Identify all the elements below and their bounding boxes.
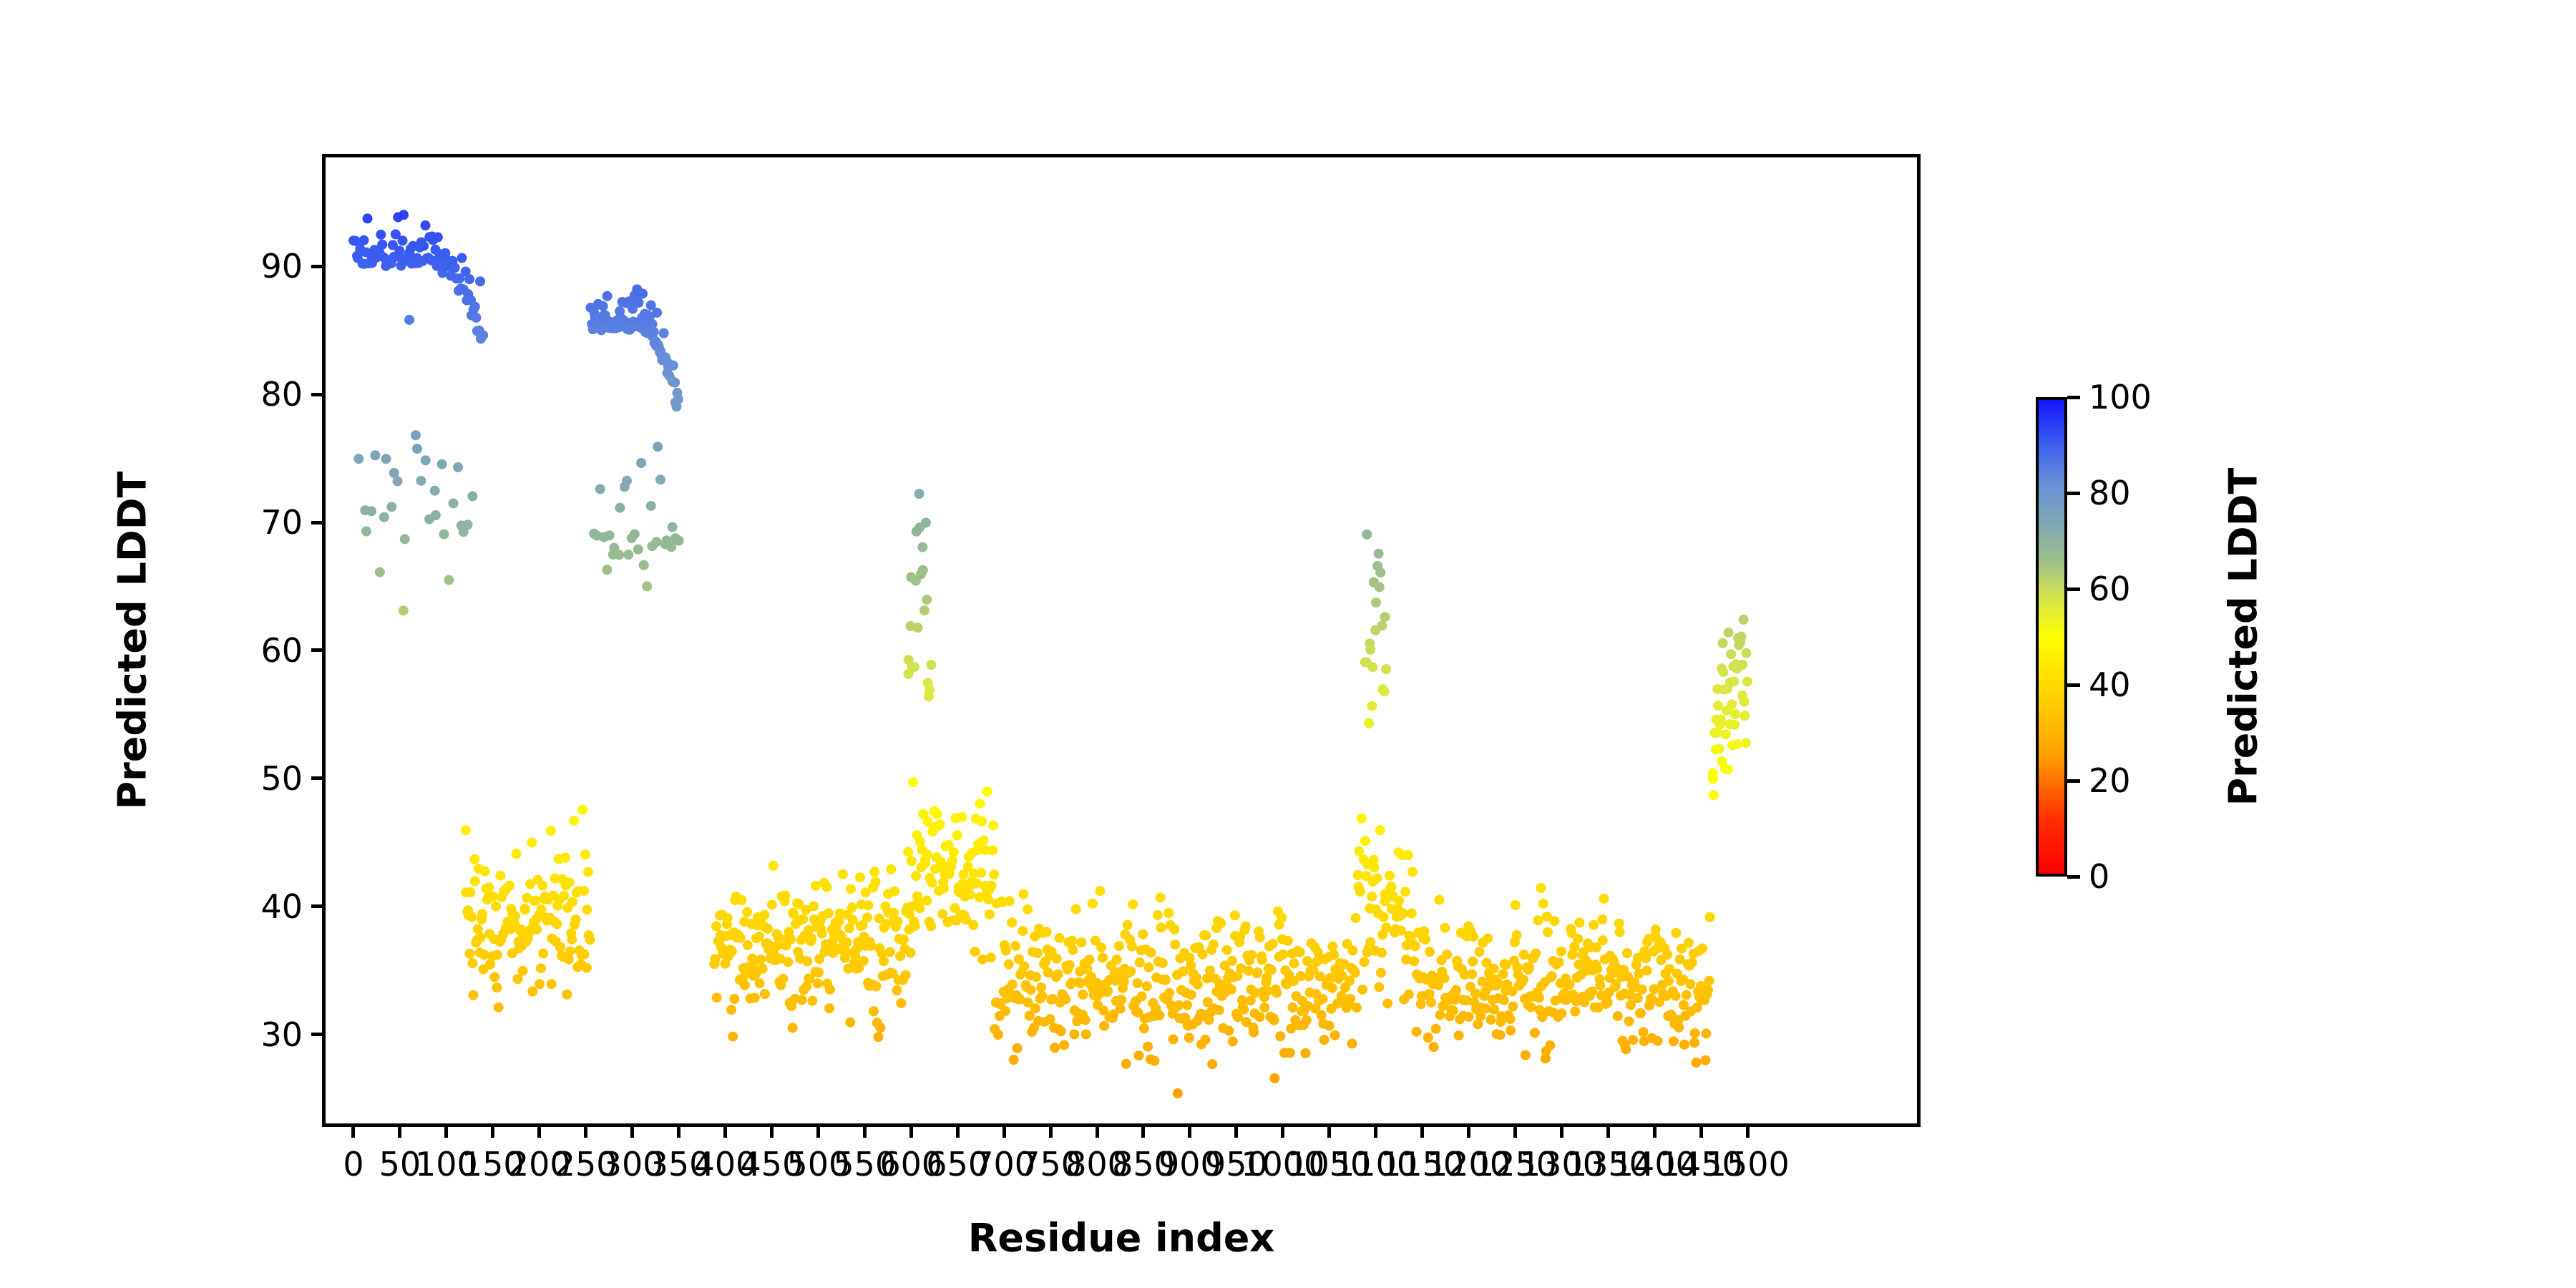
- scatter-point: [806, 933, 816, 943]
- scatter-point: [1536, 883, 1546, 893]
- scatter-point: [780, 891, 790, 901]
- scatter-point: [1409, 956, 1419, 966]
- scatter-point: [1729, 720, 1740, 730]
- scatter-point: [824, 908, 834, 918]
- scatter-point: [1404, 990, 1414, 1000]
- scatter-point: [1381, 664, 1391, 674]
- scatter-point: [1705, 912, 1715, 922]
- scatter-point: [1380, 612, 1390, 622]
- scatter-point: [932, 809, 942, 819]
- scatter-point: [1714, 744, 1724, 754]
- scatter-point: [565, 877, 575, 887]
- scatter-point: [1069, 1029, 1079, 1039]
- scatter-point: [1679, 1040, 1689, 1050]
- scatter-point: [1410, 941, 1420, 951]
- scatter-point: [467, 958, 477, 968]
- scatter-point: [1556, 947, 1566, 957]
- scatter-point: [614, 550, 624, 560]
- x-tick-mark: [1327, 1123, 1331, 1138]
- scatter-point: [1302, 1015, 1312, 1025]
- scatter-point: [1403, 850, 1413, 860]
- scatter-point: [1534, 992, 1544, 1002]
- scatter-point: [1726, 649, 1736, 659]
- scatter-point: [1531, 948, 1541, 958]
- scatter-point: [846, 884, 856, 894]
- scatter-point: [370, 450, 380, 460]
- colorbar-tick-label: 80: [2089, 474, 2131, 512]
- scatter-point: [477, 909, 487, 919]
- scatter-point: [399, 210, 409, 220]
- scatter-point: [1186, 990, 1196, 1000]
- scatter-point: [480, 867, 490, 877]
- scatter-point: [555, 942, 565, 952]
- scatter-point: [809, 901, 819, 911]
- scatter-point: [910, 921, 920, 931]
- scatter-point: [1184, 1033, 1194, 1043]
- scatter-point: [416, 476, 426, 486]
- x-tick-label: 0: [343, 1145, 364, 1184]
- y-tick-mark: [311, 904, 326, 908]
- scatter-point: [1327, 942, 1337, 952]
- scatter-point: [579, 886, 589, 896]
- scatter-point: [1740, 697, 1750, 707]
- scatter-point: [1669, 1036, 1679, 1046]
- scatter-point: [1429, 1042, 1439, 1052]
- scatter-point: [817, 929, 827, 939]
- scatter-point: [1564, 980, 1574, 990]
- scatter-point: [1511, 900, 1521, 910]
- scatter-point: [1376, 967, 1386, 977]
- scatter-point: [448, 498, 458, 508]
- scatter-point: [982, 786, 992, 796]
- scatter-point: [1724, 628, 1734, 638]
- scatter-point: [1357, 814, 1367, 824]
- scatter-point: [1112, 955, 1122, 965]
- scatter-point: [1354, 846, 1364, 856]
- scatter-point: [1289, 958, 1299, 968]
- scatter-point: [518, 966, 528, 976]
- scatter-point: [987, 845, 997, 855]
- scatter-point: [1283, 936, 1293, 946]
- scatter-point: [886, 864, 896, 874]
- scatter-point: [1615, 927, 1625, 937]
- x-tick-mark: [1513, 1123, 1517, 1138]
- scatter-point: [469, 990, 479, 1000]
- scatter-point: [1278, 950, 1288, 960]
- scatter-point: [1355, 887, 1365, 897]
- scatter-point: [767, 899, 777, 909]
- scatter-point: [1277, 912, 1287, 922]
- scatter-point: [602, 565, 612, 575]
- scatter-point: [1050, 1043, 1060, 1053]
- scatter-point: [1367, 662, 1377, 672]
- scatter-point: [552, 919, 562, 929]
- scatter-point: [1138, 930, 1148, 940]
- scatter-point: [711, 921, 721, 931]
- scatter-point: [1257, 955, 1267, 965]
- x-tick-mark: [1653, 1123, 1657, 1138]
- scatter-point: [1703, 985, 1713, 995]
- scatter-point: [1737, 660, 1747, 670]
- scatter-point: [1641, 965, 1652, 975]
- x-tick-mark: [909, 1123, 913, 1138]
- scatter-point: [863, 900, 873, 910]
- scatter-point: [398, 235, 408, 245]
- scatter-point: [412, 444, 422, 454]
- scatter-point: [623, 550, 633, 560]
- scatter-point: [1412, 1027, 1422, 1037]
- scatter-point: [1598, 935, 1608, 945]
- scatter-point: [838, 869, 848, 879]
- scatter-point: [892, 916, 902, 926]
- colorbar-tick-label: 100: [2089, 378, 2152, 416]
- scatter-point: [1116, 1004, 1126, 1014]
- scatter-point: [926, 921, 936, 931]
- scatter-point: [919, 605, 930, 615]
- scatter-point: [595, 484, 605, 494]
- scatter-point: [788, 1023, 798, 1033]
- scatter-point: [668, 361, 678, 371]
- scatter-point: [989, 869, 999, 879]
- scatter-point: [1019, 889, 1029, 899]
- scatter-point: [1146, 947, 1156, 957]
- scatter-point: [1127, 942, 1137, 952]
- scatter-point: [783, 957, 793, 967]
- scatter-point: [1228, 1036, 1238, 1046]
- scatter-point: [1246, 950, 1257, 960]
- scatter-point: [911, 871, 921, 881]
- scatter-point: [1036, 982, 1046, 992]
- scatter-point: [1222, 945, 1232, 955]
- scatter-point: [492, 982, 502, 992]
- scatter-point: [484, 882, 494, 892]
- scatter-point: [375, 567, 385, 577]
- colorbar: 020406080100: [2036, 397, 2067, 877]
- scatter-point: [642, 581, 652, 591]
- scatter-point: [1407, 867, 1418, 877]
- scatter-point: [1599, 894, 1609, 904]
- colorbar-tick-label: 60: [2089, 570, 2131, 608]
- scatter-point: [797, 995, 807, 1005]
- scatter-point: [859, 956, 869, 966]
- scatter-point: [377, 240, 387, 250]
- scatter-point: [1241, 922, 1251, 932]
- y-tick-label: 60: [260, 631, 303, 670]
- scatter-point: [814, 967, 824, 977]
- scatter-point: [673, 394, 683, 404]
- scatter-point: [1379, 912, 1389, 922]
- scatter-point: [622, 476, 632, 486]
- scatter-point: [750, 992, 760, 1002]
- scatter-point: [1001, 945, 1011, 955]
- scatter-point: [1360, 957, 1370, 967]
- scatter-point: [668, 522, 678, 532]
- scatter-point: [1352, 1002, 1362, 1013]
- scatter-point: [464, 949, 474, 959]
- scatter-point: [560, 853, 570, 863]
- scatter-point: [1470, 988, 1480, 998]
- scatter-point: [457, 253, 467, 263]
- scatter-point: [723, 913, 733, 923]
- scatter-point: [1570, 1006, 1580, 1016]
- scatter-point: [598, 301, 608, 311]
- scatter-point: [912, 623, 922, 633]
- scatter-point: [1468, 932, 1478, 942]
- x-tick-mark: [1188, 1123, 1191, 1138]
- y-tick-label: 50: [260, 759, 303, 798]
- scatter-point: [1227, 956, 1237, 966]
- scatter-point: [988, 821, 998, 831]
- scatter-point: [786, 935, 796, 945]
- scatter-point: [1137, 991, 1147, 1001]
- scatter-point: [759, 910, 769, 920]
- scatter-point: [758, 964, 768, 974]
- scatter-point: [760, 989, 770, 999]
- scatter-point: [1230, 910, 1240, 920]
- scatter-point: [769, 861, 779, 871]
- scatter-point: [987, 881, 997, 891]
- x-tick-mark: [584, 1123, 587, 1138]
- scatter-point: [1425, 989, 1435, 999]
- scatter-point: [653, 441, 663, 452]
- scatter-point: [892, 985, 902, 995]
- y-tick-label: 70: [260, 503, 303, 542]
- x-tick-mark: [863, 1123, 867, 1138]
- scatter-point: [905, 947, 915, 957]
- scatter-point: [1365, 937, 1375, 947]
- scatter-point: [798, 914, 808, 924]
- scatter-point: [1193, 980, 1203, 990]
- scatter-point: [1506, 1014, 1516, 1024]
- scatter-point: [1059, 1040, 1069, 1050]
- scatter-point: [362, 213, 372, 223]
- scatter-point: [979, 835, 989, 845]
- scatter-point: [985, 909, 995, 919]
- scatter-point: [562, 990, 572, 1000]
- scatter-point: [1013, 1043, 1023, 1053]
- scatter-point: [1255, 1012, 1265, 1022]
- scatter-point: [1739, 615, 1749, 625]
- scatter-point: [1508, 1002, 1518, 1012]
- scatter-point: [1285, 1048, 1295, 1058]
- scatter-point: [1071, 904, 1081, 914]
- scatter-point: [532, 924, 542, 935]
- scatter-point: [580, 849, 590, 859]
- scatter-point: [1239, 1005, 1249, 1015]
- scatter-point: [1742, 676, 1752, 686]
- scatter-point: [1060, 995, 1070, 1005]
- scatter-point: [1723, 764, 1733, 774]
- scatter-point: [926, 660, 936, 670]
- scatter-point: [871, 981, 881, 991]
- colorbar-tick-mark: [2067, 683, 2080, 687]
- scatter-point: [431, 510, 441, 520]
- scatter-point: [755, 978, 765, 988]
- scatter-point: [1360, 836, 1370, 846]
- scatter-point: [655, 474, 665, 484]
- scatter-point: [1468, 957, 1478, 967]
- x-tick-mark: [398, 1123, 401, 1138]
- scatter-point: [1687, 957, 1697, 967]
- scatter-point: [1592, 964, 1602, 974]
- scatter-point: [1269, 1015, 1279, 1025]
- scatter-point: [879, 956, 889, 966]
- scatter-point: [885, 947, 895, 957]
- scatter-point: [813, 978, 823, 988]
- scatter-point: [461, 825, 471, 835]
- scatter-point: [1597, 914, 1607, 924]
- x-tick-mark: [770, 1123, 774, 1138]
- scatter-point: [1209, 940, 1219, 950]
- scatter-point: [1448, 1005, 1458, 1015]
- scatter-point: [1454, 1030, 1464, 1040]
- x-tick-mark: [630, 1123, 634, 1138]
- scatter-point: [1269, 1073, 1279, 1083]
- scatter-point: [1741, 648, 1751, 658]
- scatter-point: [907, 856, 917, 866]
- scatter-point: [847, 902, 857, 912]
- scatter-point: [430, 486, 440, 496]
- scatter-point: [577, 805, 587, 815]
- scatter-point: [585, 935, 595, 945]
- x-tick-mark: [1606, 1123, 1610, 1138]
- scatter-point: [1483, 933, 1493, 943]
- scatter-point: [1319, 1035, 1330, 1045]
- scatter-point: [1729, 676, 1739, 686]
- scatter-point: [1550, 916, 1560, 926]
- scatter-point: [1382, 998, 1392, 1008]
- scatter-point: [1557, 1008, 1567, 1018]
- scatter-point: [1386, 882, 1396, 892]
- scatter-point: [728, 1032, 738, 1042]
- scatter-point: [1318, 994, 1328, 1004]
- scatter-point: [379, 512, 389, 522]
- scatter-point: [615, 503, 625, 513]
- scatter-point: [1018, 926, 1028, 936]
- scatter-point: [1351, 913, 1361, 923]
- scatter-point: [1161, 975, 1171, 985]
- scatter-point: [463, 519, 473, 530]
- colorbar-tick-label: 20: [2089, 761, 2131, 800]
- scatter-point: [1371, 597, 1381, 608]
- figure-canvas: 30405060708090 0501001502002503003504004…: [0, 0, 2576, 1288]
- scatter-point: [1671, 991, 1681, 1001]
- scatter-point: [1440, 923, 1450, 933]
- scatter-point: [914, 489, 924, 499]
- scatter-point: [1639, 1028, 1649, 1038]
- scatter-point: [1080, 1015, 1091, 1025]
- scatter-point: [1008, 980, 1018, 990]
- scatter-point: [1154, 1010, 1164, 1020]
- scatter-point: [366, 506, 376, 516]
- scatter-point: [1573, 934, 1583, 944]
- scatter-point: [582, 962, 592, 972]
- scatter-point: [1031, 972, 1041, 982]
- colorbar-label: Predicted LDDT: [2221, 468, 2266, 806]
- colorbar-tick-mark: [2067, 779, 2080, 783]
- scatter-point: [1169, 1034, 1179, 1044]
- scatter-point: [1372, 873, 1382, 883]
- scatter-point: [582, 904, 592, 914]
- scatter-point: [1364, 718, 1374, 728]
- scatter-point: [1719, 667, 1729, 677]
- scatter-point: [1301, 1048, 1311, 1058]
- scatter-point: [1255, 932, 1265, 942]
- scatter-point: [1464, 1012, 1474, 1022]
- scatter-point: [1700, 1055, 1710, 1065]
- y-tick-mark: [311, 393, 326, 396]
- scatter-point: [1139, 1023, 1149, 1033]
- scatter-point: [908, 777, 918, 787]
- scatter-point: [1426, 997, 1436, 1008]
- scatter-point: [520, 904, 530, 914]
- scatter-point: [736, 895, 746, 905]
- scatter-point: [1128, 899, 1138, 909]
- scatter-point: [1394, 896, 1404, 906]
- scatter-point: [862, 912, 872, 922]
- scatter-point: [1674, 1023, 1684, 1033]
- colorbar-tick-mark: [2067, 875, 2080, 879]
- scatter-point: [567, 935, 577, 945]
- scatter-point: [1671, 928, 1681, 938]
- scatter-point: [1329, 950, 1339, 960]
- scatter-point: [1435, 1010, 1445, 1020]
- scatter-point: [729, 994, 739, 1004]
- scatter-point: [1499, 995, 1509, 1005]
- scatter-point: [871, 877, 881, 887]
- x-tick-mark: [1002, 1123, 1006, 1138]
- scatter-point: [1054, 933, 1064, 943]
- scatter-point: [975, 799, 985, 809]
- scatter-point: [1375, 567, 1385, 577]
- scatter-point: [1701, 1028, 1711, 1038]
- x-tick-mark: [537, 1123, 541, 1138]
- scatter-point: [1621, 1044, 1631, 1054]
- scatter-point: [476, 932, 486, 942]
- scatter-point: [1407, 908, 1417, 918]
- scatter-point: [651, 537, 661, 547]
- scatter-point: [1524, 962, 1534, 972]
- scatter-point: [1156, 892, 1166, 902]
- scatter-point: [538, 948, 548, 958]
- scatter-point: [1348, 945, 1358, 955]
- scatter-point: [1377, 948, 1387, 958]
- scatter-point: [602, 291, 613, 301]
- scatter-point: [1004, 960, 1014, 970]
- scatter-point: [1732, 739, 1742, 749]
- scatter-point: [1053, 969, 1063, 979]
- scatter-point: [736, 933, 746, 943]
- scatter-point: [965, 889, 975, 899]
- scatter-point: [400, 534, 410, 544]
- scatter-point: [1126, 967, 1136, 977]
- scatter-point: [1143, 1042, 1153, 1052]
- scatter-point: [909, 662, 919, 672]
- scatter-point: [376, 230, 386, 240]
- scatter-point: [1713, 701, 1723, 711]
- scatter-point: [869, 867, 879, 877]
- scatter-point: [1198, 950, 1208, 960]
- scatter-point: [1624, 1016, 1634, 1026]
- scatter-point: [1156, 922, 1166, 932]
- scatter-point: [469, 854, 479, 864]
- scatter-point: [1345, 994, 1355, 1004]
- scatter-point: [1065, 960, 1075, 970]
- scatter-point: [1636, 1008, 1646, 1018]
- scatter-point: [1595, 980, 1605, 990]
- scatter-point: [1201, 1035, 1211, 1045]
- scatter-point: [1633, 993, 1643, 1003]
